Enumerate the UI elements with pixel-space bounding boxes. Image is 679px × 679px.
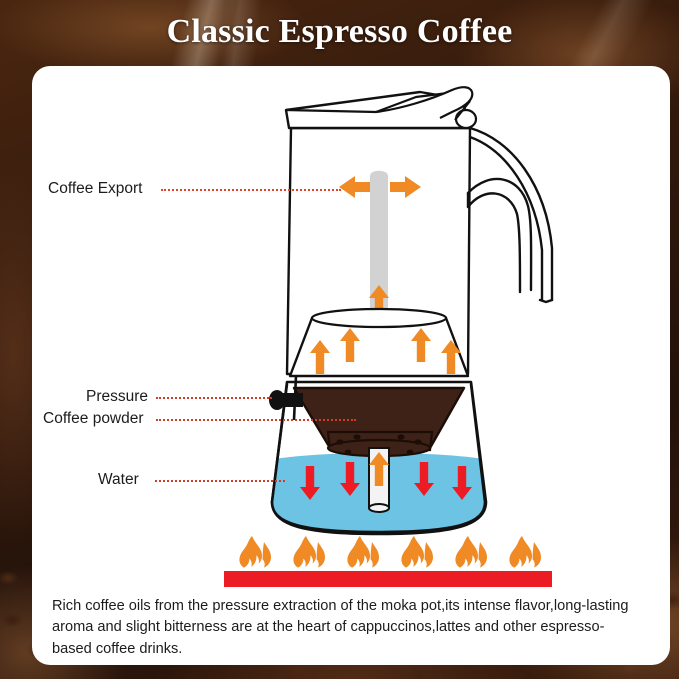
page-title: Classic Espresso Coffee — [0, 13, 679, 51]
leader-water — [155, 480, 285, 482]
label-water: Water — [98, 471, 139, 489]
description-text: Rich coffee oils from the pressure extra… — [52, 596, 630, 660]
burner-bar — [224, 571, 552, 587]
label-pressure: Pressure — [86, 388, 148, 406]
label-coffee-powder: Coffee powder — [43, 410, 144, 428]
espresso-infographic: Classic Espresso Coffee — [0, 0, 679, 679]
leader-coffee-powder — [156, 419, 356, 421]
leader-pressure — [156, 397, 272, 399]
leader-coffee-export — [161, 189, 341, 191]
label-coffee-export: Coffee Export — [48, 180, 143, 198]
